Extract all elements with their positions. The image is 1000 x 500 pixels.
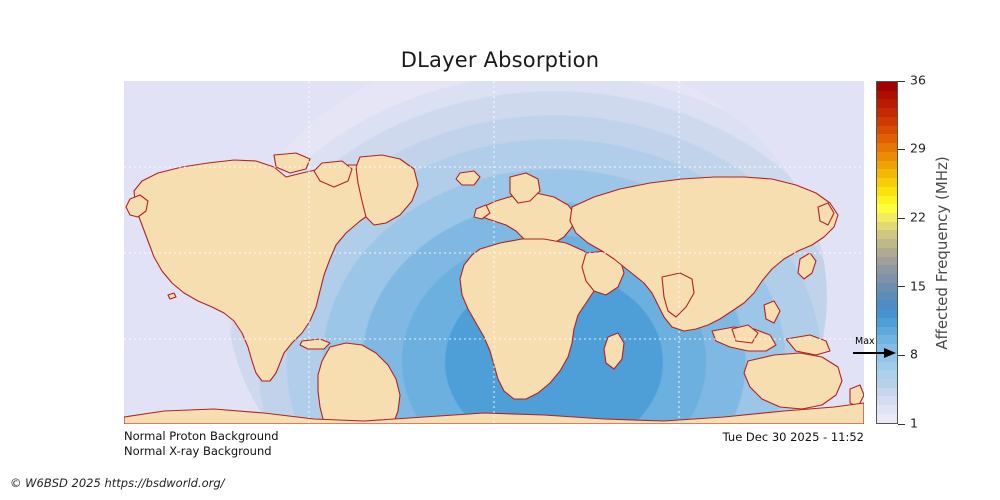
- colorbar-band-25: [877, 300, 897, 309]
- colorbar-band-17: [877, 230, 897, 239]
- status-annotations: Normal Proton Background Normal X-ray Ba…: [124, 429, 279, 459]
- colorbar-band-2: [877, 99, 897, 108]
- colorbar-band-26: [877, 309, 897, 318]
- colorbar-band-1: [877, 91, 897, 100]
- dlayer-absorption-plot: DLayer Absorption: [0, 0, 1000, 500]
- colorbar-tick-label: 36: [910, 74, 926, 87]
- colorbar-band-9: [877, 161, 897, 170]
- colorbar-band-33: [877, 370, 897, 379]
- colorbar-band-32: [877, 362, 897, 371]
- copyright-label: © W6BSD 2025 https://bsdworld.org/: [10, 476, 225, 490]
- colorbar-band-38: [877, 414, 897, 423]
- xray-background-status: Normal X-ray Background: [124, 444, 279, 459]
- colorbar-band-21: [877, 265, 897, 274]
- tick-mark-icon: [898, 81, 905, 82]
- colorbar-axis-label-text: Affected Frequency (MHz): [933, 156, 951, 350]
- colorbar-band-27: [877, 318, 897, 327]
- colorbar-band-28: [877, 327, 897, 336]
- colorbar-band-14: [877, 204, 897, 213]
- tick-mark-icon: [898, 286, 905, 287]
- colorbar-band-11: [877, 178, 897, 187]
- max-value-marker: Max: [852, 338, 900, 362]
- colorbar-band-6: [877, 134, 897, 143]
- proton-background-status: Normal Proton Background: [124, 429, 279, 444]
- colorbar-band-34: [877, 379, 897, 388]
- colorbar-axis-label: Affected Frequency (MHz): [930, 81, 954, 424]
- colorbar-band-10: [877, 169, 897, 178]
- colorbar-tick-label: 15: [910, 280, 926, 293]
- colorbar-band-24: [877, 292, 897, 301]
- colorbar-band-18: [877, 239, 897, 248]
- colorbar-band-4: [877, 117, 897, 126]
- tick-mark-icon: [898, 424, 905, 425]
- colorbar-band-0: [877, 82, 897, 91]
- colorbar-band-5: [877, 126, 897, 135]
- colorbar-band-3: [877, 108, 897, 117]
- colorbar-band-35: [877, 388, 897, 397]
- colorbar-band-12: [877, 187, 897, 196]
- tick-mark-icon: [898, 149, 905, 150]
- colorbar-band-20: [877, 257, 897, 266]
- colorbar-band-13: [877, 196, 897, 205]
- page-title: DLayer Absorption: [0, 48, 1000, 72]
- colorbar-tick-label: 22: [910, 211, 926, 224]
- max-arrow-icon: [852, 347, 898, 359]
- colorbar-band-37: [877, 405, 897, 414]
- colorbar[interactable]: [876, 81, 898, 424]
- world-map-canvas: [124, 81, 864, 424]
- colorbar-band-7: [877, 143, 897, 152]
- colorbar-band-15: [877, 213, 897, 222]
- colorbar-band-22: [877, 274, 897, 283]
- colorbar-band-19: [877, 248, 897, 257]
- colorbar-gradient: [877, 82, 897, 423]
- colorbar-band-36: [877, 396, 897, 405]
- world-map-axes[interactable]: [124, 81, 864, 424]
- colorbar-band-8: [877, 152, 897, 161]
- colorbar-tick-label: 8: [910, 349, 918, 362]
- tick-mark-icon: [898, 218, 905, 219]
- colorbar-band-23: [877, 283, 897, 292]
- colorbar-tick-label: 1: [910, 417, 918, 430]
- colorbar-band-16: [877, 222, 897, 231]
- colorbar-tick-label: 29: [910, 143, 926, 156]
- max-marker-label: Max: [855, 337, 875, 347]
- timestamp-label: Tue Dec 30 2025 - 11:52: [723, 430, 864, 444]
